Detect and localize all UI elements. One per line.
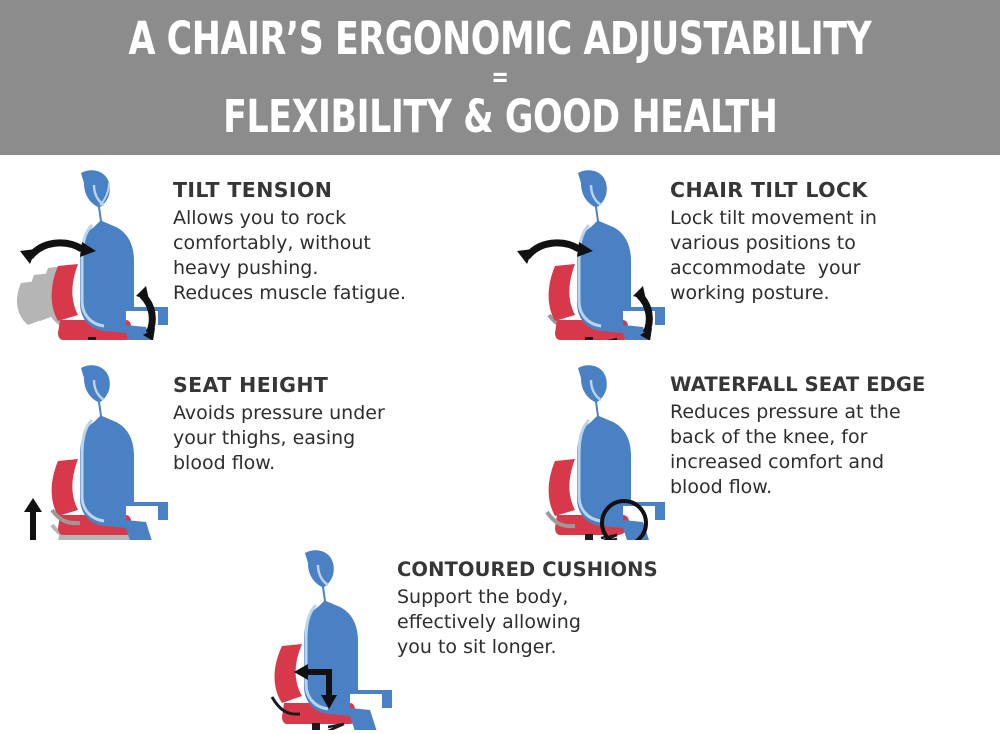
seated-person-silhouette <box>304 550 392 730</box>
feature-body-line: your thighs, easing <box>173 426 508 451</box>
feature-body-line: Support the body, <box>397 585 792 610</box>
chair-gas-cylinder <box>312 723 320 730</box>
feature-waterfall-seat-edge-text: WATERFALL SEAT EDGE Reduces pressure at … <box>670 360 1000 500</box>
feature-title: CONTOURED CUSHIONS <box>397 559 792 581</box>
chair-gas-cylinder <box>585 534 593 540</box>
double-headed-vertical-arrow <box>24 498 42 540</box>
feature-body-line: Lock tilt movement in <box>670 206 1000 231</box>
chair-gas-cylinder <box>585 337 593 340</box>
feature-title: TILT TENSION <box>173 179 508 202</box>
chair-tilt-tension-illustration <box>8 165 173 340</box>
feature-contoured-cushions: CONTOURED CUSHIONS Support the body, eff… <box>232 545 792 730</box>
features-grid: TILT TENSION Allows you to rock comforta… <box>0 155 1000 734</box>
feature-body-line: effectively allowing <box>397 610 792 635</box>
feature-tilt-tension-text: TILT TENSION Allows you to rock comforta… <box>173 165 508 306</box>
chair-backrest <box>549 264 575 321</box>
feature-body-line: comfortably, without <box>173 231 508 256</box>
feature-body: Allows you to rock comfortably, without … <box>173 206 508 306</box>
feature-title: CHAIR TILT LOCK <box>670 179 1000 202</box>
feature-body: Support the body, effectively allowing y… <box>397 585 792 660</box>
chair-gas-cylinder <box>88 337 96 340</box>
feature-body-line: heavy pushing. <box>173 256 508 281</box>
chair-tilt-tension-svg <box>8 165 173 340</box>
feature-body: Reduces pressure at the back of the knee… <box>670 400 1000 500</box>
chair-contoured-cushions-illustration <box>232 545 397 730</box>
chair-seat-height-illustration <box>8 360 173 540</box>
tilt-lock-lever <box>328 724 344 730</box>
feature-body-line: you to sit longer. <box>397 635 792 660</box>
feature-chair-tilt-lock: CHAIR TILT LOCK Lock tilt movement in va… <box>505 165 1000 340</box>
feature-body: Lock tilt movement in various positions … <box>670 206 1000 306</box>
chair-tilt-lock-illustration <box>505 165 670 340</box>
seated-person-silhouette <box>80 365 168 540</box>
feature-body-line: Reduces pressure at the <box>670 400 1000 425</box>
feature-body-line: accommodate your <box>670 256 1000 281</box>
seated-person-silhouette <box>577 365 665 540</box>
feature-body-line: Allows you to rock <box>173 206 508 231</box>
feature-title: WATERFALL SEAT EDGE <box>670 374 1000 396</box>
chair-backrest <box>549 459 575 516</box>
feature-chair-tilt-lock-text: CHAIR TILT LOCK Lock tilt movement in va… <box>670 165 1000 306</box>
chair-contoured-cushions-svg <box>232 545 397 730</box>
feature-body-line: Avoids pressure under <box>173 401 508 426</box>
feature-body-line: back of the knee, for <box>670 425 1000 450</box>
feature-waterfall-seat-edge: WATERFALL SEAT EDGE Reduces pressure at … <box>505 360 1000 540</box>
feature-body-line: blood flow. <box>173 451 508 476</box>
feature-body-line: blood flow. <box>670 475 1000 500</box>
feature-tilt-tension: TILT TENSION Allows you to rock comforta… <box>8 165 508 340</box>
chair-waterfall-seat-edge-illustration <box>505 360 670 540</box>
chair-backrest <box>52 459 78 516</box>
chair-waterfall-seat-edge-svg <box>505 360 670 540</box>
feature-body: Avoids pressure under your thighs, easin… <box>173 401 508 476</box>
feature-body-line: various positions to <box>670 231 1000 256</box>
feature-body-line: working posture. <box>670 281 1000 306</box>
feature-contoured-cushions-text: CONTOURED CUSHIONS Support the body, eff… <box>397 545 792 660</box>
feature-body-line: increased comfort and <box>670 450 1000 475</box>
feature-seat-height-text: SEAT HEIGHT Avoids pressure under your t… <box>173 360 508 476</box>
feature-seat-height: SEAT HEIGHT Avoids pressure under your t… <box>8 360 508 540</box>
banner-headline-2: FLEXIBILITY & GOOD HEALTH <box>223 94 777 139</box>
header-banner: A CHAIR’S ERGONOMIC ADJUSTABILITY = FLEX… <box>0 0 1000 155</box>
banner-equals-sign: = <box>491 64 508 91</box>
feature-title: SEAT HEIGHT <box>173 374 508 397</box>
banner-headline-1: A CHAIR’S ERGONOMIC ADJUSTABILITY <box>129 16 872 61</box>
chair-backrest <box>52 264 78 321</box>
chair-seat-height-svg <box>8 360 173 540</box>
chair-tilt-lock-svg <box>505 165 670 340</box>
feature-body-line: Reduces muscle fatigue. <box>173 281 508 306</box>
